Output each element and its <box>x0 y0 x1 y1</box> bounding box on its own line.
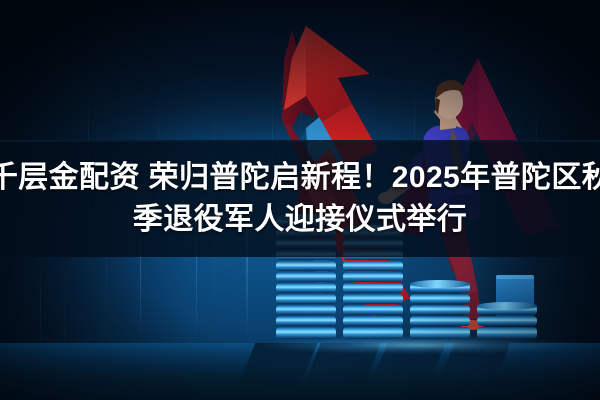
headline-line-2: 季退役军人迎接仪式举行 <box>133 200 467 240</box>
headline-line-1: 千层金配资 荣归普陀启新程！2025年普陀区秋 <box>0 158 600 198</box>
headline-text-block: 千层金配资 荣归普陀启新程！2025年普陀区秋 季退役军人迎接仪式举行 <box>0 140 600 257</box>
thumbnail-image: 千层金配资 荣归普陀启新程！2025年普陀区秋 季退役军人迎接仪式举行 <box>0 0 600 400</box>
